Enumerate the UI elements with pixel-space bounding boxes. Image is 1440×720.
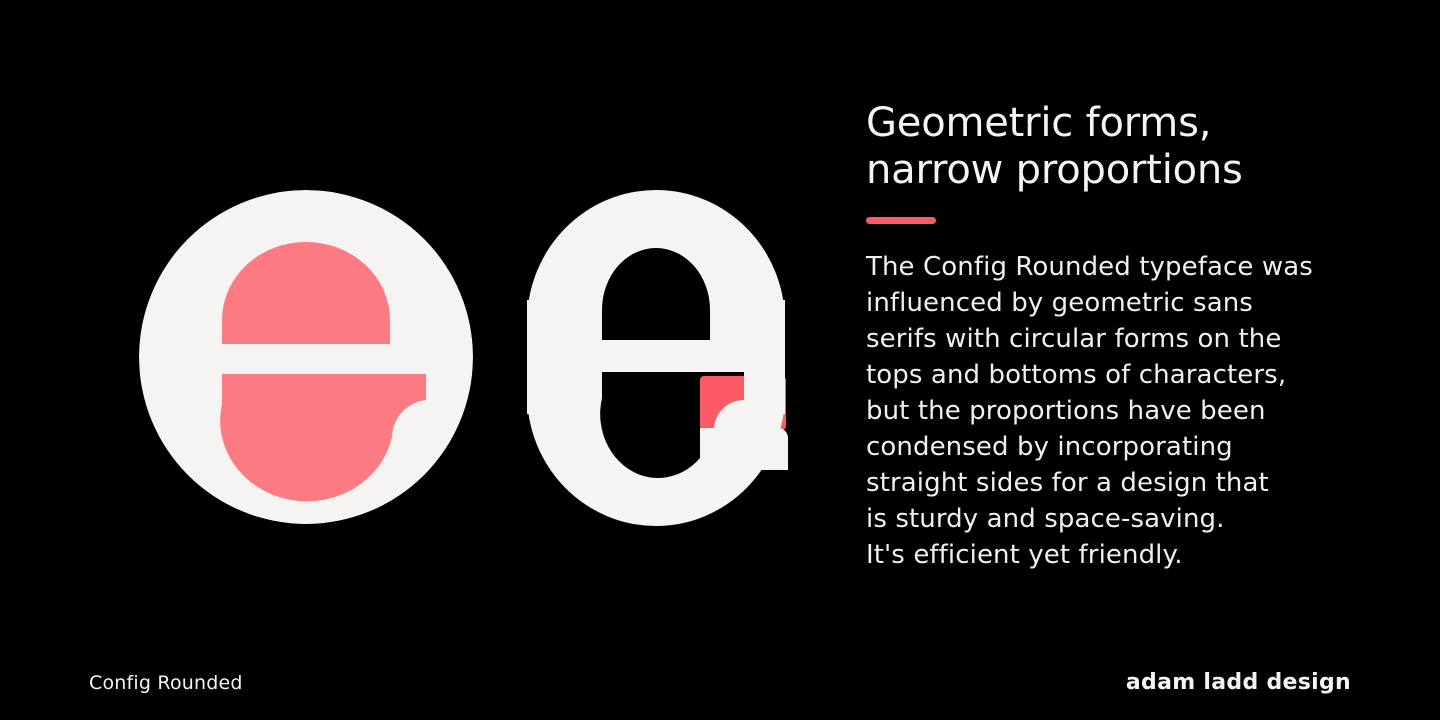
glyph-e-narrow <box>520 180 795 530</box>
footer-typeface-name: Config Rounded <box>89 672 243 694</box>
glyph-e-terminal <box>700 428 788 470</box>
glyph-e-circular <box>139 190 473 524</box>
accent-rule <box>866 217 936 224</box>
glyph-pair-svg <box>0 0 840 720</box>
type-specimen-artwork <box>0 0 840 720</box>
footer-studio-credit: adam ladd design <box>1126 670 1351 695</box>
page-title: Geometric forms, narrow proportions <box>866 100 1336 194</box>
body-paragraph: The Config Rounded typeface was influenc… <box>866 249 1336 573</box>
text-column: Geometric forms, narrow proportions The … <box>866 100 1336 599</box>
slide-canvas: Geometric forms, narrow proportions The … <box>0 0 1440 720</box>
